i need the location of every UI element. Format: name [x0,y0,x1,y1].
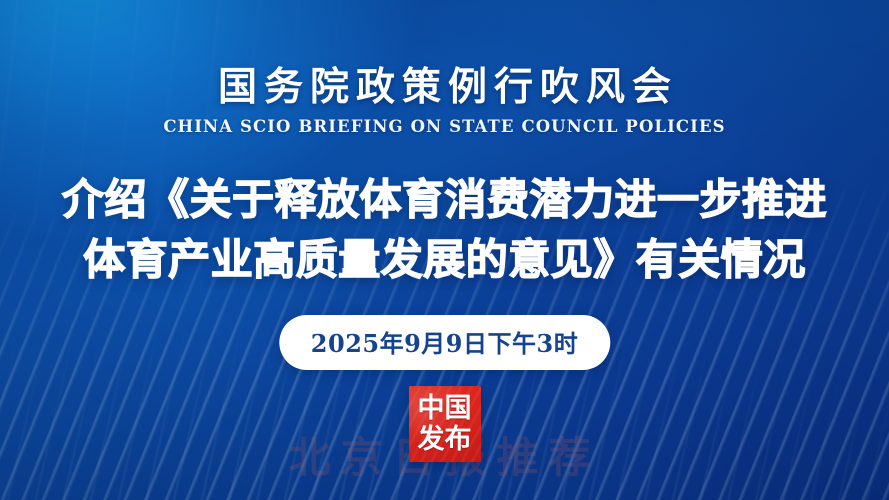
header-subtitle-en: CHINA SCIO BRIEFING ON STATE COUNCIL POL… [0,117,889,136]
logo-line-bottom: 发布 [418,426,472,453]
main-title-line-1: 介绍《关于释放体育消费潜力进一步推进 [0,170,889,230]
poster-content: 国务院政策例行吹风会 CHINA SCIO BRIEFING ON STATE … [0,0,889,500]
header-block: 国务院政策例行吹风会 CHINA SCIO BRIEFING ON STATE … [0,66,889,136]
logo-line-top: 中国 [418,395,472,422]
date-badge: 2025年9月9日下午3时 [279,315,610,370]
main-title-line-2: 体育产业高质量发展的意见》有关情况 [0,230,889,290]
date-badge-label: 2025年9月9日下午3时 [311,324,578,359]
header-title-cn: 国务院政策例行吹风会 [0,66,889,108]
briefing-poster: 北京日报推荐 国务院政策例行吹风会 CHINA SCIO BRIEFING ON… [0,0,889,500]
main-title-block: 介绍《关于释放体育消费潜力进一步推进 体育产业高质量发展的意见》有关情况 [0,170,889,289]
china-release-logo-icon: 中国 发布 [409,386,481,462]
